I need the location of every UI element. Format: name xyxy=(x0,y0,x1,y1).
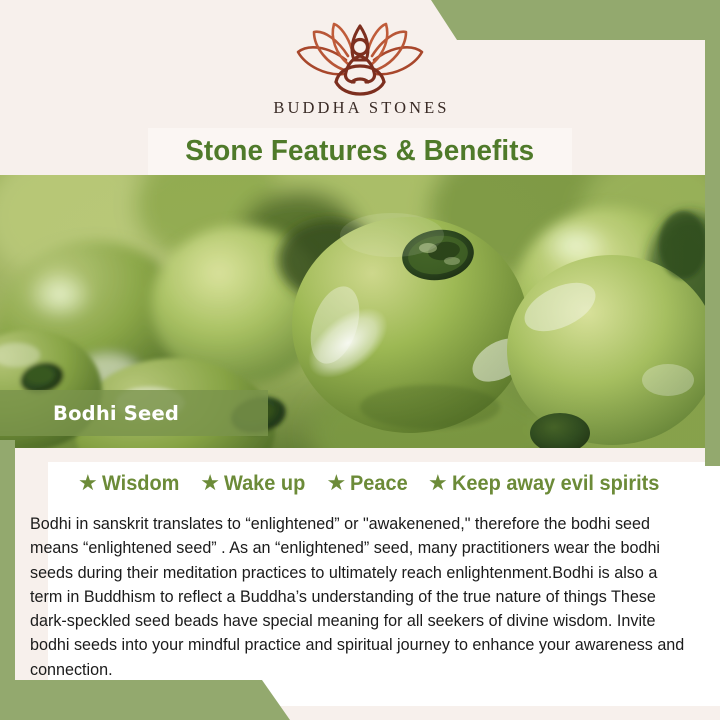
star-icon: ★ xyxy=(200,472,220,494)
feature-list: ★ Wisdom ★ Wake up ★ Peace ★ Keep away e… xyxy=(48,472,700,496)
title-banner: Stone Features & Benefits xyxy=(148,128,572,175)
feature-label: Wisdom xyxy=(102,472,179,496)
content-section: ★ Wisdom ★ Wake up ★ Peace ★ Keep away e… xyxy=(0,448,720,720)
star-icon: ★ xyxy=(327,472,347,494)
feature-label: Keep away evil spirits xyxy=(452,472,659,496)
description-paragraph: Bodhi in sanskrit translates to “enlight… xyxy=(30,512,686,682)
frame-accent-right xyxy=(705,0,720,466)
frame-accent-left xyxy=(0,440,15,720)
content-card: ★ Wisdom ★ Wake up ★ Peace ★ Keep away e… xyxy=(48,462,720,706)
feature-item: ★ Wake up xyxy=(200,472,309,496)
infographic-page: Bodhi Seed xyxy=(0,0,720,720)
feature-item: ★ Peace xyxy=(327,472,411,496)
star-icon: ★ xyxy=(78,472,98,494)
bodhi-seed-beads-photo: Bodhi Seed xyxy=(0,175,705,448)
page-title: Stone Features & Benefits xyxy=(186,135,535,168)
photo-caption-label: Bodhi Seed xyxy=(53,402,179,425)
feature-label: Peace xyxy=(350,472,408,496)
feature-item: ★ Wisdom xyxy=(78,472,183,496)
feature-item: ★ Keep away evil spirits xyxy=(428,472,670,496)
lotus-meditation-icon xyxy=(276,20,444,96)
feature-label: Wake up xyxy=(224,472,305,496)
brand-name: BUDDHA STONES xyxy=(0,98,720,118)
star-icon: ★ xyxy=(428,472,448,494)
photo-caption-band: Bodhi Seed xyxy=(0,390,268,436)
